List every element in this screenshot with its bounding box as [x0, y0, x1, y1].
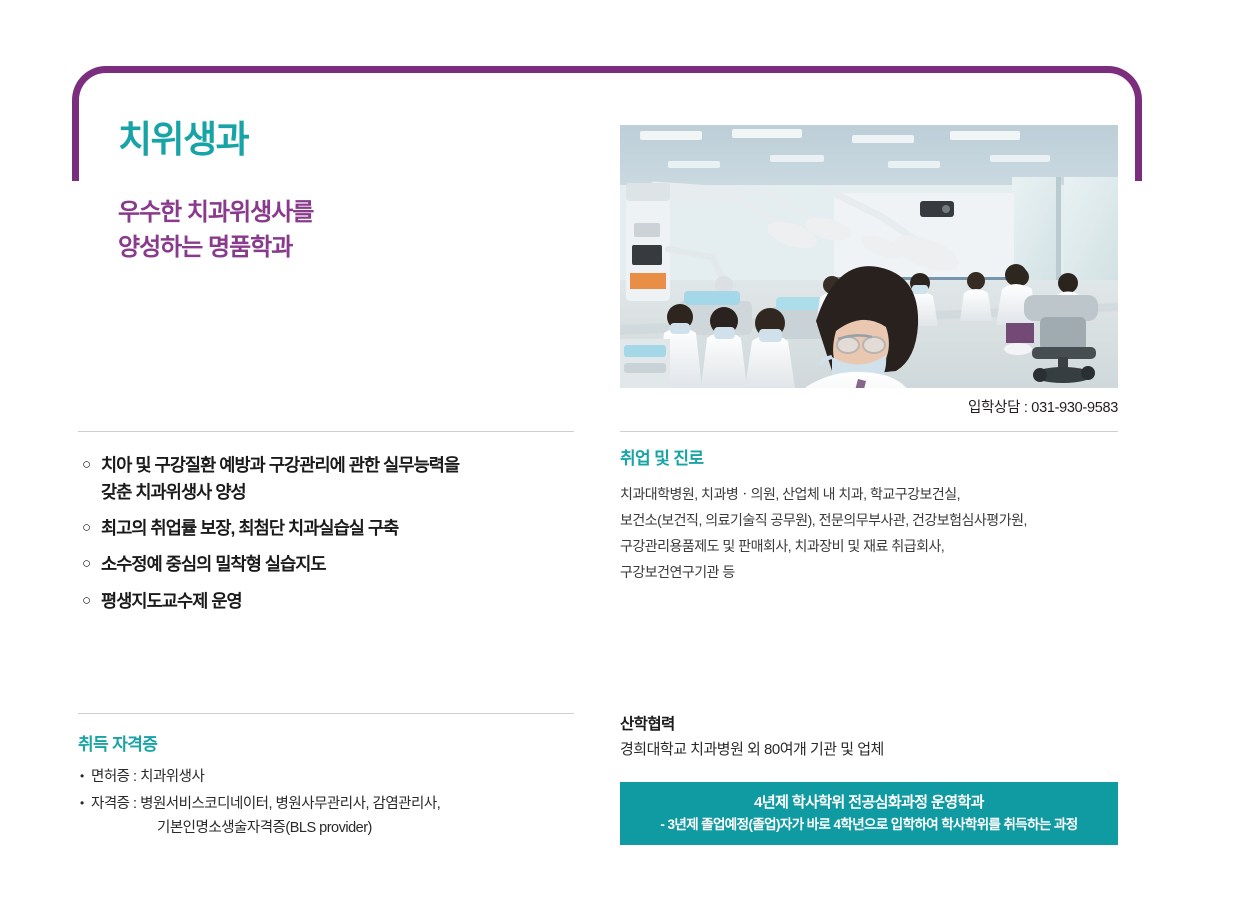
- feature-list: ○ 치아 및 구강질환 예방과 구강관리에 관한 실무능력을 갖춘 치과위생사 …: [82, 452, 602, 624]
- dot-bullet-icon: •: [80, 793, 91, 813]
- list-item-text: 치아 및 구강질환 예방과 구강관리에 관한 실무능력을 갖춘 치과위생사 양성: [101, 452, 602, 506]
- section-heading-certifications: 취득 자격증: [78, 730, 157, 755]
- cooperation-title: 산학협력: [620, 712, 675, 734]
- list-item-line: 평생지도교수제 운영: [101, 591, 242, 611]
- brochure-page: 치위생과 우수한 치과위생사를 양성하는 명품학과: [0, 0, 1240, 915]
- admissions-contact: 입학상담 : 031-930-9583: [620, 396, 1118, 417]
- tagline-line-2: 양성하는 명품학과: [118, 231, 313, 266]
- dental-lab-photo-graphic: [620, 125, 1118, 388]
- career-body: 치과대학병원, 치과병ㆍ의원, 산업체 내 치과, 학교구강보건실, 보건소(보…: [620, 482, 1120, 586]
- list-item-text: 평생지도교수제 운영: [101, 588, 602, 615]
- circle-bullet-icon: ○: [82, 515, 101, 541]
- list-item: • 자격증 : 병원서비스코디네이터, 병원사무관리사, 감염관리사, 기본인명…: [80, 793, 600, 841]
- divider-right-top: [620, 431, 1118, 432]
- page-title: 치위생과: [118, 120, 248, 161]
- career-line: 구강보건연구기관 등: [620, 560, 1120, 586]
- section-heading-career: 취업 및 진로: [620, 444, 703, 469]
- bachelor-program-banner: 4년제 학사학위 전공심화과정 운영학과 - 3년제 졸업예정(졸업)자가 바로…: [620, 782, 1118, 845]
- tagline-line-1: 우수한 치과위생사를: [118, 196, 313, 231]
- list-item: ○ 평생지도교수제 운영: [82, 588, 602, 615]
- list-item-line-cont: 갖춘 치과위생사 양성: [101, 479, 602, 506]
- list-item-line: 면허증 : 치과위생사: [91, 769, 204, 785]
- list-item-text: 면허증 : 치과위생사: [91, 766, 600, 790]
- list-item: ○ 소수정예 중심의 밀착형 실습지도: [82, 551, 602, 578]
- divider-left-bottom: [78, 713, 574, 714]
- list-item-text: 자격증 : 병원서비스코디네이터, 병원사무관리사, 감염관리사, 기본인명소생…: [91, 793, 600, 841]
- list-item-text: 소수정예 중심의 밀착형 실습지도: [101, 551, 602, 578]
- dental-lab-photo: [620, 125, 1118, 388]
- circle-bullet-icon: ○: [82, 551, 101, 577]
- list-item: • 면허증 : 치과위생사: [80, 766, 600, 790]
- circle-bullet-icon: ○: [82, 452, 101, 478]
- tagline: 우수한 치과위생사를 양성하는 명품학과: [118, 196, 313, 266]
- circle-bullet-icon: ○: [82, 588, 101, 614]
- list-item: ○ 치아 및 구강질환 예방과 구강관리에 관한 실무능력을 갖춘 치과위생사 …: [82, 452, 602, 506]
- dot-bullet-icon: •: [80, 766, 91, 786]
- list-item-line: 자격증 : 병원서비스코디네이터, 병원사무관리사, 감염관리사,: [91, 796, 440, 812]
- career-line: 보건소(보건직, 의료기술직 공무원), 전문의무부사관, 건강보험심사평가원,: [620, 508, 1120, 534]
- list-item-line-cont: 기본인명소생술자격증(BLS provider): [91, 817, 600, 841]
- list-item-line: 소수정예 중심의 밀착형 실습지도: [101, 554, 326, 574]
- divider-left-top: [78, 431, 574, 432]
- banner-line-2: - 3년제 졸업예정(졸업)자가 바로 4학년으로 입학하여 학사학위를 취득하…: [660, 815, 1077, 835]
- list-item: ○ 최고의 취업률 보장, 최첨단 치과실습실 구축: [82, 515, 602, 542]
- banner-line-1: 4년제 학사학위 전공심화과정 운영학과: [754, 792, 984, 815]
- cooperation-subtitle: 경희대학교 치과병원 외 80여개 기관 및 업체: [620, 738, 884, 759]
- career-line: 치과대학병원, 치과병ㆍ의원, 산업체 내 치과, 학교구강보건실,: [620, 482, 1120, 508]
- list-item-line: 치아 및 구강질환 예방과 구강관리에 관한 실무능력을: [101, 455, 459, 475]
- career-line: 구강관리용품제도 및 판매회사, 치과장비 및 재료 취급회사,: [620, 534, 1120, 560]
- list-item-text: 최고의 취업률 보장, 최첨단 치과실습실 구축: [101, 515, 602, 542]
- certification-list: • 면허증 : 치과위생사 • 자격증 : 병원서비스코디네이터, 병원사무관리…: [80, 766, 600, 844]
- list-item-line: 최고의 취업률 보장, 최첨단 치과실습실 구축: [101, 518, 398, 538]
